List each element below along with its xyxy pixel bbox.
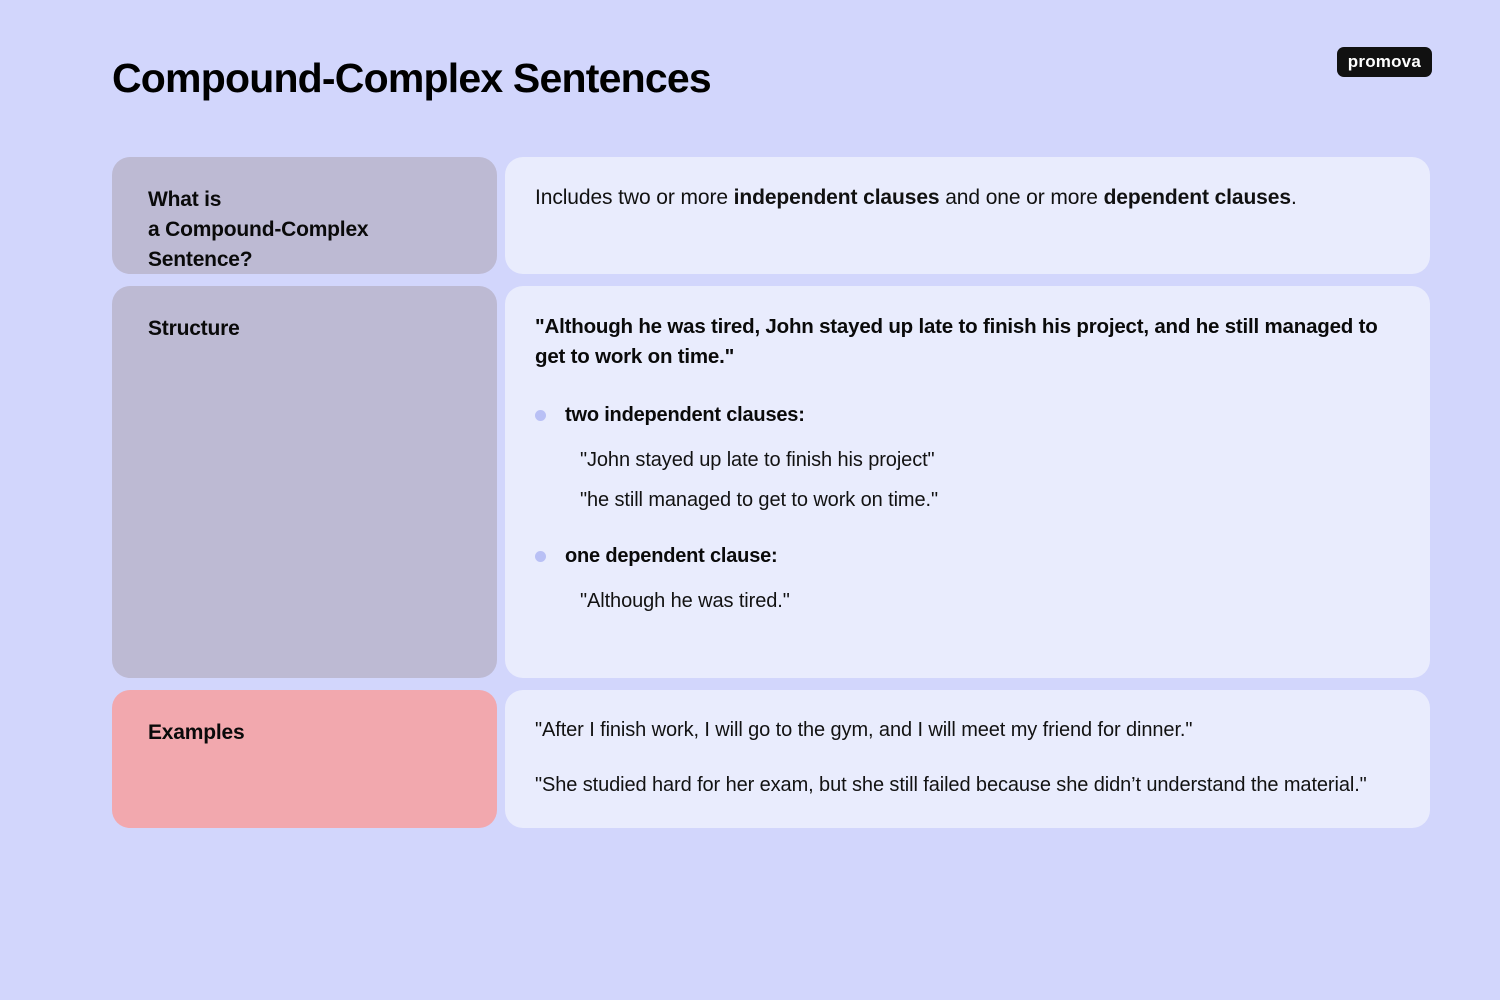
definition-part-1: Includes two or more: [535, 186, 734, 209]
bullet-title-independent: two independent clauses:: [565, 404, 805, 427]
definition-text: Includes two or more independent clauses…: [535, 183, 1396, 213]
content-cell-definition: Includes two or more independent clauses…: [505, 157, 1430, 274]
table-row-examples: Examples "After I finish work, I will go…: [112, 690, 1430, 828]
bullet-group-dependent: one dependent clause: "Although he was t…: [535, 545, 1396, 616]
content-cell-examples: "After I finish work, I will go to the g…: [505, 690, 1430, 828]
clause-item: "he still managed to get to work on time…: [580, 485, 1396, 515]
example-item: "After I finish work, I will go to the g…: [535, 716, 1396, 745]
table-row-structure: Structure "Although he was tired, John s…: [112, 286, 1430, 678]
definition-bold-independent: independent clauses: [734, 186, 940, 209]
bullet-group-independent: two independent clauses: "John stayed up…: [535, 404, 1396, 515]
page-title: Compound-Complex Sentences: [112, 55, 711, 102]
content-cell-structure: "Although he was tired, John stayed up l…: [505, 286, 1430, 678]
definition-bold-dependent: dependent clauses: [1104, 186, 1291, 209]
structure-label: Structure: [148, 314, 497, 344]
bullet-head-dependent: one dependent clause:: [535, 545, 1396, 568]
infographic-page: Compound-Complex Sentences promova What …: [0, 0, 1500, 1000]
bullet-dot-icon: [535, 410, 546, 421]
promova-logo: promova: [1337, 47, 1432, 77]
bullet-title-dependent: one dependent clause:: [565, 545, 778, 568]
example-item: "She studied hard for her exam, but she …: [535, 771, 1396, 800]
content-table: What is a Compound-Complex Sentence? Inc…: [112, 157, 1430, 828]
clause-item: "Although he was tired.": [580, 586, 1396, 616]
label-cell-examples: Examples: [112, 690, 497, 828]
label-cell-structure: Structure: [112, 286, 497, 678]
label-cell-definition: What is a Compound-Complex Sentence?: [112, 157, 497, 274]
bullet-head-independent: two independent clauses:: [535, 404, 1396, 427]
definition-part-2: and one or more: [939, 186, 1103, 209]
examples-label: Examples: [148, 718, 497, 748]
table-row-definition: What is a Compound-Complex Sentence? Inc…: [112, 157, 1430, 274]
structure-example-sentence: "Although he was tired, John stayed up l…: [535, 312, 1396, 371]
bullet-dot-icon: [535, 551, 546, 562]
definition-part-3: .: [1291, 186, 1297, 209]
definition-label: What is a Compound-Complex Sentence?: [148, 185, 497, 274]
clause-item: "John stayed up late to finish his proje…: [580, 445, 1396, 475]
